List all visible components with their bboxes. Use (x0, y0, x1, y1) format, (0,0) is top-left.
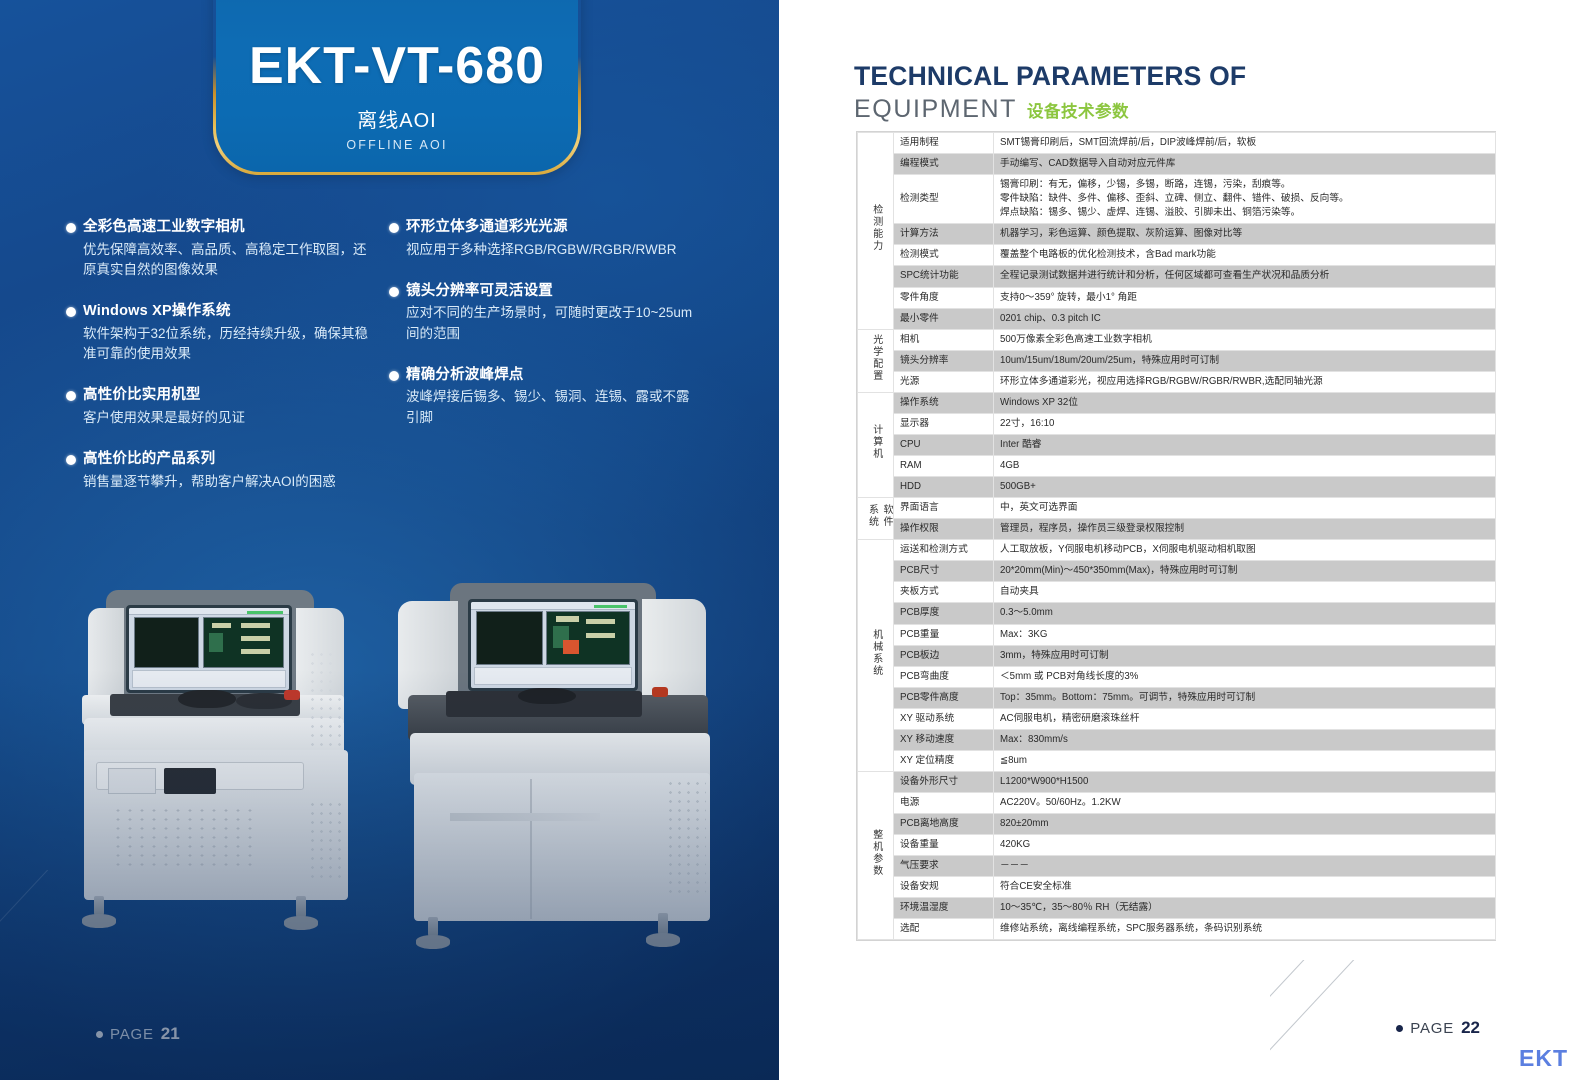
feature-body: 软件架构于32位系统，历经持续升级，确保其稳准可靠的使用效果 (83, 324, 371, 365)
spec-value: 锡膏印刷：有无，偏移，少锡，多锡，断路，连锡，污染，刮痕等。零件缺陷：缺件、多件… (994, 175, 1496, 224)
table-row: 环境温湿度10～35℃，35～80％ RH（无结露） (858, 898, 1496, 919)
table-row: 计算机操作系统Windows XP 32位 (858, 392, 1496, 413)
spec-key: PCB尺寸 (894, 561, 994, 582)
feature-title: Windows XP操作系统 (83, 302, 231, 322)
spec-key: PCB离地高度 (894, 814, 994, 835)
spec-value: 3mm，特殊应用时可订制 (994, 645, 1496, 666)
feature-body: 客户使用效果是最好的见证 (83, 408, 371, 428)
table-row: XY 定位精度≦8um (858, 750, 1496, 771)
spec-value: 手动编写、CAD数据导入自动对应元件库 (994, 154, 1496, 175)
spec-value: 820±20mm (994, 814, 1496, 835)
spec-key: 设备外形尺寸 (894, 771, 994, 792)
feature-title: 高性价比实用机型 (83, 386, 201, 406)
spec-value: AC220V。50/60Hz。1.2KW (994, 793, 1496, 814)
feature-item: 镜头分辨率可灵活设置 应对不同的生产场景时，可随时更改于10~25um间的范围 (389, 282, 694, 344)
product-subtitle-cn: 离线AOI (357, 104, 436, 133)
table-row: 操作权限管理员，程序员，操作员三级登录权限控制 (858, 519, 1496, 540)
table-row: 光学配置相机500万像素全彩色高速工业数字相机 (858, 329, 1496, 350)
table-row: 设备重量420KG (858, 835, 1496, 856)
spec-group-label: 机械系统 (858, 540, 894, 772)
spec-value: 0201 chip、0.3 pitch IC (994, 308, 1496, 329)
table-row: PCB零件高度Top：35mm。Bottom：75mm。可调节，特殊应用时可订制 (858, 687, 1496, 708)
spec-key: 运送和检测方式 (894, 540, 994, 561)
spec-value: 支持0～359° 旋转，最小1° 角距 (994, 287, 1496, 308)
bullet-dot-icon (66, 223, 76, 233)
right-page-footer: PAGE 22 (1396, 1018, 1480, 1038)
spec-table-wrapper: 检测能力适用制程SMT锡膏印刷后，SMT回流焊前/后，DIP波峰焊前/后，软板编… (856, 131, 1496, 941)
spec-key: 检测类型 (894, 175, 994, 224)
spec-value: 22寸，16:10 (994, 413, 1496, 434)
spec-value: Windows XP 32位 (994, 392, 1496, 413)
spec-key: 设备重量 (894, 835, 994, 856)
spec-value: Max：3KG (994, 624, 1496, 645)
spec-key: XY 移动速度 (894, 729, 994, 750)
feature-item: 环形立体多通道彩光光源 视应用于多种选择RGB/RGBW/RGBR/RWBR (389, 218, 694, 260)
spec-key: HDD (894, 477, 994, 498)
spec-key: 选配 (894, 919, 994, 940)
table-row: 检测类型锡膏印刷：有无，偏移，少锡，多锡，断路，连锡，污染，刮痕等。零件缺陷：缺… (858, 175, 1496, 224)
spec-group-label: 计算机 (858, 392, 894, 497)
table-row: 镜头分辨率10um/15um/18um/20um/25um，特殊应用时可订制 (858, 350, 1496, 371)
spec-value: ≦8um (994, 750, 1496, 771)
spec-value: 500GB+ (994, 477, 1496, 498)
spec-value: 0.3～5.0mm (994, 603, 1496, 624)
table-row: 显示器22寸，16:10 (858, 413, 1496, 434)
spec-key: RAM (894, 456, 994, 477)
bullet-dot-icon (66, 455, 76, 465)
page-title-equipment: EQUIPMENT (854, 95, 1017, 124)
table-row: XY 驱动系统AC伺服电机，精密研磨滚珠丝杆 (858, 708, 1496, 729)
feature-column-right: 环形立体多通道彩光光源 视应用于多种选择RGB/RGBW/RGBR/RWBR 镜… (389, 218, 694, 514)
feature-item: 全彩色高速工业数字相机 优先保障高效率、高品质、高稳定工作取图，还原真实自然的图… (66, 218, 371, 280)
page-number: 21 (161, 1024, 180, 1044)
spec-key: 光源 (894, 371, 994, 392)
page-dot-icon (1396, 1025, 1403, 1032)
spec-key: 最小零件 (894, 308, 994, 329)
table-row: 检测模式覆盖整个电路板的优化检测技术，含Bad mark功能 (858, 245, 1496, 266)
spec-value: 环形立体多通道彩光，视应用选择RGB/RGBW/RGBR/RWBR,选配同轴光源 (994, 371, 1496, 392)
spec-key: SPC统计功能 (894, 266, 994, 287)
table-row: 最小零件0201 chip、0.3 pitch IC (858, 308, 1496, 329)
spec-key: PCB板边 (894, 645, 994, 666)
spec-key: 计算方法 (894, 224, 994, 245)
spec-key: 相机 (894, 329, 994, 350)
page-title-line1: TECHNICAL PARAMETERS OF (854, 62, 1246, 92)
table-row: RAM4GB (858, 456, 1496, 477)
table-row: 电源AC220V。50/60Hz。1.2KW (858, 793, 1496, 814)
table-row: 软件系统界面语言中，英文可选界面 (858, 498, 1496, 519)
page-title-cn: 设备技术参数 (1027, 98, 1129, 122)
spec-key: CPU (894, 434, 994, 455)
spec-key: 操作系统 (894, 392, 994, 413)
page-title: TECHNICAL PARAMETERS OF EQUIPMENT 设备技术参数 (854, 62, 1246, 124)
spec-key: 零件角度 (894, 287, 994, 308)
table-row: PCB板边3mm，特殊应用时可订制 (858, 645, 1496, 666)
spec-key: PCB重量 (894, 624, 994, 645)
table-row: CPUInter 酷睿 (858, 434, 1496, 455)
spec-value: 500万像素全彩色高速工业数字相机 (994, 329, 1496, 350)
feature-item: 精确分析波峰焊点 波峰焊接后锡多、锡少、锡洞、连锡、露或不露引脚 (389, 366, 694, 428)
spec-value: 20*20mm(Min)～450*350mm(Max)，特殊应用时可订制 (994, 561, 1496, 582)
spec-value-line: 锡膏印刷：有无，偏移，少锡，多锡，断路，连锡，污染，刮痕等。 (1000, 178, 1489, 192)
product-subtitle-en: OFFLINE AOI (346, 138, 447, 152)
spec-value: 10um/15um/18um/20um/25um，特殊应用时可订制 (994, 350, 1496, 371)
spec-group-label: 整机参数 (858, 771, 894, 940)
page-number: 22 (1461, 1018, 1480, 1038)
bullet-dot-icon (66, 307, 76, 317)
spec-value: 10～35℃，35～80％ RH（无结露） (994, 898, 1496, 919)
spec-value: Max：830mm/s (994, 729, 1496, 750)
spec-value: 覆盖整个电路板的优化检测技术，含Bad mark功能 (994, 245, 1496, 266)
product-model-name: EKT-VT-680 (249, 39, 545, 94)
table-row: PCB弯曲度＜5mm 或 PCB对角线长度的3% (858, 666, 1496, 687)
feature-title: 镜头分辨率可灵活设置 (406, 282, 553, 302)
product-title-card: EKT-VT-680 离线AOI OFFLINE AOI (213, 0, 581, 175)
table-row: PCB尺寸20*20mm(Min)～450*350mm(Max)，特殊应用时可订… (858, 561, 1496, 582)
feature-body: 波峰焊接后锡多、锡少、锡洞、连锡、露或不露引脚 (406, 387, 694, 428)
spec-value-line: 零件缺陷：缺件、多件、偏移、歪斜、立碑、侧立、翻件、错件、破损、反向等。 (1000, 192, 1489, 206)
feature-body: 应对不同的生产场景时，可随时更改于10~25um间的范围 (406, 303, 694, 344)
company-logo: EKT (1519, 1045, 1568, 1072)
feature-list: 全彩色高速工业数字相机 优先保障高效率、高品质、高稳定工作取图，还原真实自然的图… (66, 218, 714, 514)
feature-column-left: 全彩色高速工业数字相机 优先保障高效率、高品质、高稳定工作取图，还原真实自然的图… (66, 218, 371, 514)
feature-title: 高性价比的产品系列 (83, 450, 215, 470)
spec-key: 设备安规 (894, 877, 994, 898)
spec-key: 镜头分辨率 (894, 350, 994, 371)
spec-value: ＜5mm 或 PCB对角线长度的3% (994, 666, 1496, 687)
spec-key: XY 驱动系统 (894, 708, 994, 729)
table-row: XY 移动速度Max：830mm/s (858, 729, 1496, 750)
feature-body: 优先保障高效率、高品质、高稳定工作取图，还原真实自然的图像效果 (83, 240, 371, 281)
table-row: 整机参数设备外形尺寸L1200*W900*H1500 (858, 771, 1496, 792)
spec-value: L1200*W900*H1500 (994, 771, 1496, 792)
spec-value: SMT锡膏印刷后，SMT回流焊前/后，DIP波峰焊前/后，软板 (994, 133, 1496, 154)
spec-value: 4GB (994, 456, 1496, 477)
bullet-dot-icon (66, 391, 76, 401)
left-page: EKT-VT-680 离线AOI OFFLINE AOI 全彩色高速工业数字相机… (0, 0, 779, 1080)
spec-key: 适用制程 (894, 133, 994, 154)
spec-value: 维修站系统，离线编程系统，SPC服务器系统，条码识别系统 (994, 919, 1496, 940)
table-row: PCB厚度0.3～5.0mm (858, 603, 1496, 624)
table-row: SPC统计功能全程记录测试数据并进行统计和分析，任何区域都可查看生产状况和品质分… (858, 266, 1496, 287)
spec-value: Inter 酷睿 (994, 434, 1496, 455)
page-label: PAGE (1410, 1020, 1454, 1037)
spec-key: 操作权限 (894, 519, 994, 540)
feature-item: 高性价比的产品系列 销售量逐节攀升，帮助客户解决AOI的困惑 (66, 450, 371, 492)
spec-group-label: 检测能力 (858, 133, 894, 330)
table-row: 检测能力适用制程SMT锡膏印刷后，SMT回流焊前/后，DIP波峰焊前/后，软板 (858, 133, 1496, 154)
spec-key: 显示器 (894, 413, 994, 434)
feature-title: 精确分析波峰焊点 (406, 366, 524, 386)
spec-value: 420KG (994, 835, 1496, 856)
spec-value: 人工取放板，Y伺服电机移动PCB，X伺服电机驱动相机取图 (994, 540, 1496, 561)
aoi-machine-photo-2 (390, 583, 720, 955)
table-row: 光源环形立体多通道彩光，视应用选择RGB/RGBW/RGBR/RWBR,选配同轴… (858, 371, 1496, 392)
feature-title: 全彩色高速工业数字相机 (83, 218, 245, 238)
spec-value: 全程记录测试数据并进行统计和分析，任何区域都可查看生产状况和品质分析 (994, 266, 1496, 287)
spec-key: 编程模式 (894, 154, 994, 175)
spec-table: 检测能力适用制程SMT锡膏印刷后，SMT回流焊前/后，DIP波峰焊前/后，软板编… (857, 132, 1496, 940)
table-row: PCB重量Max：3KG (858, 624, 1496, 645)
spec-value: 中，英文可选界面 (994, 498, 1496, 519)
spec-key: 气压要求 (894, 856, 994, 877)
bullet-dot-icon (389, 371, 399, 381)
table-row: 机械系统运送和检测方式人工取放板，Y伺服电机移动PCB，X伺服电机驱动相机取图 (858, 540, 1496, 561)
table-row: 气压要求－－－ (858, 856, 1496, 877)
page-dot-icon (96, 1031, 103, 1038)
brochure-spread: EKT-VT-680 离线AOI OFFLINE AOI 全彩色高速工业数字相机… (0, 0, 1590, 1080)
spec-key: 环境温湿度 (894, 898, 994, 919)
spec-key: 夹板方式 (894, 582, 994, 603)
page-label: PAGE (110, 1026, 154, 1043)
spec-key: XY 定位精度 (894, 750, 994, 771)
table-row: HDD500GB+ (858, 477, 1496, 498)
spec-value: 机器学习，彩色运算、颜色提取、灰阶运算、图像对比等 (994, 224, 1496, 245)
aoi-machine-photo-1 (68, 590, 358, 945)
table-row: 设备安规符合CE安全标准 (858, 877, 1496, 898)
spec-key: PCB零件高度 (894, 687, 994, 708)
table-row: 选配维修站系统，离线编程系统，SPC服务器系统，条码识别系统 (858, 919, 1496, 940)
table-row: 计算方法机器学习，彩色运算、颜色提取、灰阶运算、图像对比等 (858, 224, 1496, 245)
spec-value-line: 焊点缺陷：锡多、锡少、虚焊、连锡、溢胶、引脚未出、铜箔污染等。 (1000, 206, 1489, 220)
spec-value: AC伺服电机，精密研磨滚珠丝杆 (994, 708, 1496, 729)
table-row: 零件角度支持0～359° 旋转，最小1° 角距 (858, 287, 1496, 308)
feature-body: 销售量逐节攀升，帮助客户解决AOI的困惑 (83, 472, 371, 492)
spec-value: 符合CE安全标准 (994, 877, 1496, 898)
spec-value: Top：35mm。Bottom：75mm。可调节，特殊应用时可订制 (994, 687, 1496, 708)
left-page-footer: PAGE 21 (96, 1024, 180, 1044)
spec-value: 管理员，程序员，操作员三级登录权限控制 (994, 519, 1496, 540)
spec-group-label: 软件系统 (858, 498, 894, 540)
right-page: TECHNICAL PARAMETERS OF EQUIPMENT 设备技术参数… (779, 0, 1590, 1080)
spec-key: 电源 (894, 793, 994, 814)
feature-item: 高性价比实用机型 客户使用效果是最好的见证 (66, 386, 371, 428)
spec-key: 界面语言 (894, 498, 994, 519)
spec-value: 自动夹具 (994, 582, 1496, 603)
table-row: 编程模式手动编写、CAD数据导入自动对应元件库 (858, 154, 1496, 175)
feature-item: Windows XP操作系统 软件架构于32位系统，历经持续升级，确保其稳准可靠… (66, 302, 371, 364)
spec-value: －－－ (994, 856, 1496, 877)
spec-key: 检测模式 (894, 245, 994, 266)
bullet-dot-icon (389, 287, 399, 297)
feature-title: 环形立体多通道彩光光源 (406, 218, 568, 238)
table-row: 夹板方式自动夹具 (858, 582, 1496, 603)
spec-group-label: 光学配置 (858, 329, 894, 392)
table-row: PCB离地高度820±20mm (858, 814, 1496, 835)
spec-key: PCB厚度 (894, 603, 994, 624)
feature-body: 视应用于多种选择RGB/RGBW/RGBR/RWBR (406, 240, 694, 260)
product-photos (0, 575, 779, 975)
spec-key: PCB弯曲度 (894, 666, 994, 687)
bullet-dot-icon (389, 223, 399, 233)
